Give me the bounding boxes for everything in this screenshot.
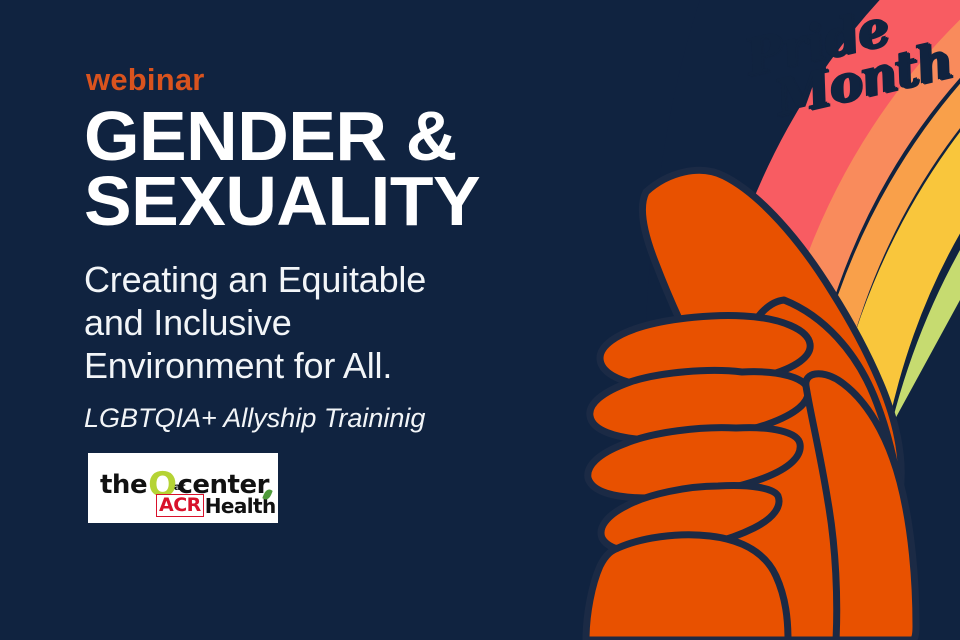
subtitle-line-2: and Inclusive [84, 301, 644, 344]
subtitle-line-3: Environment for All. [84, 344, 644, 387]
headline-line-1: GENDER & [84, 104, 696, 169]
headline-line-2: SEXUALITY [84, 169, 696, 234]
tagline: LGBTQIA+ Allyship Traininig [84, 405, 425, 432]
logo-word-at: at [174, 483, 186, 493]
page-title: GENDER & SEXUALITY [84, 104, 696, 234]
logo-inner: theQcenter at ACRHealth [88, 453, 278, 523]
subtitle: Creating an Equitable and Inclusive Envi… [84, 258, 644, 388]
logo-word-acr: ACR [156, 494, 204, 517]
logo-row-acr-health: ACRHealth [156, 494, 276, 517]
poster-canvas: Pride Month webinar GENDER & SEXUALITY C… [0, 0, 960, 640]
text-block: webinar GENDER & SEXUALITY Creating an E… [0, 0, 660, 640]
eyebrow-label: webinar [86, 64, 205, 95]
subtitle-line-1: Creating an Equitable [84, 258, 644, 301]
logo-word-the: the [100, 470, 147, 500]
q-center-acr-health-logo: theQcenter at ACRHealth [88, 453, 278, 523]
